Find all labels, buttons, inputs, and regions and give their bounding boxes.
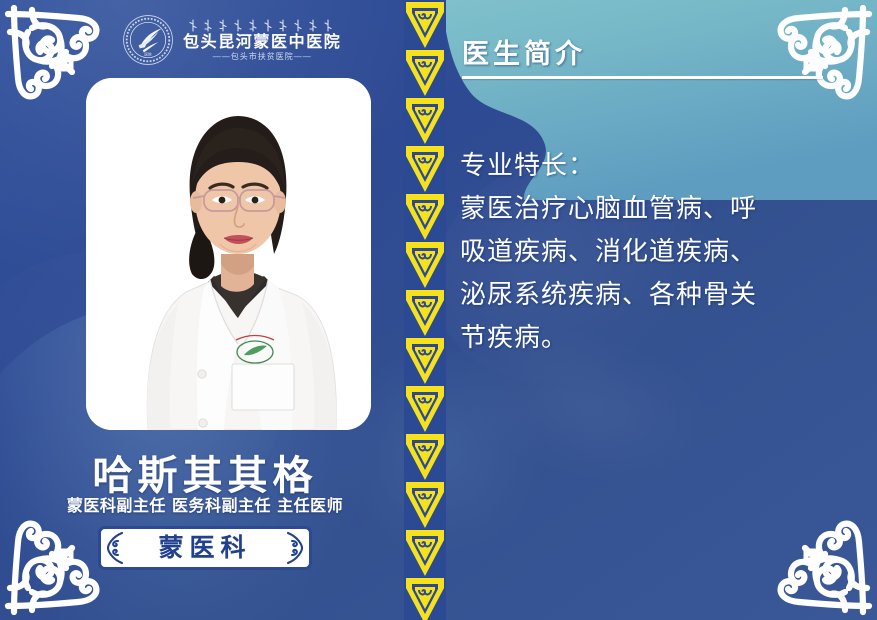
mongolian-zigzag-band-icon xyxy=(404,0,446,620)
specialty-line: 节疾病。 xyxy=(460,317,860,360)
doctor-portrait-photo xyxy=(86,78,371,430)
doctor-titles: 蒙医科副主任 医务科副主任 主任医师 xyxy=(0,492,410,516)
mongolian-scroll-corner-icon xyxy=(767,2,875,110)
department-badge-label: 蒙医科 xyxy=(158,535,251,560)
hospital-leaf-emblem-icon: 医院 xyxy=(122,14,174,66)
title-underline xyxy=(462,76,823,79)
mongolian-scroll-corner-icon xyxy=(767,510,875,618)
department-badge-wrapper: 蒙医科 xyxy=(0,526,410,570)
specialty-line: 专业特长： xyxy=(460,145,860,188)
svg-text:医院: 医院 xyxy=(144,52,152,57)
specialty-line: 泌尿系统疾病、各种骨关 xyxy=(460,274,860,317)
department-badge: 蒙医科 xyxy=(98,526,312,570)
hospital-name: 包头昆河蒙医中医院 xyxy=(183,34,341,50)
hospital-logo-bar: 医院 xyxy=(122,14,341,66)
specialty-text-block: 专业特长： 蒙医治疗心脑血管病、呼 吸道疾病、消化道疾病、 泌尿系统疾病、各种骨… xyxy=(460,145,860,360)
specialty-line: 蒙医治疗心脑血管病、呼 xyxy=(460,188,860,231)
scroll-ornament-icon xyxy=(283,531,305,565)
hospital-subtitle: ——包头市扶贫医院—— xyxy=(213,53,312,61)
page-title: 医生简介 xyxy=(462,32,586,71)
specialty-line: 吸道疾病、消化道疾病、 xyxy=(460,231,860,274)
doctor-profile-poster: 医院 xyxy=(0,0,877,620)
hospital-mongolian-script xyxy=(187,19,337,32)
scroll-ornament-icon xyxy=(105,531,127,565)
